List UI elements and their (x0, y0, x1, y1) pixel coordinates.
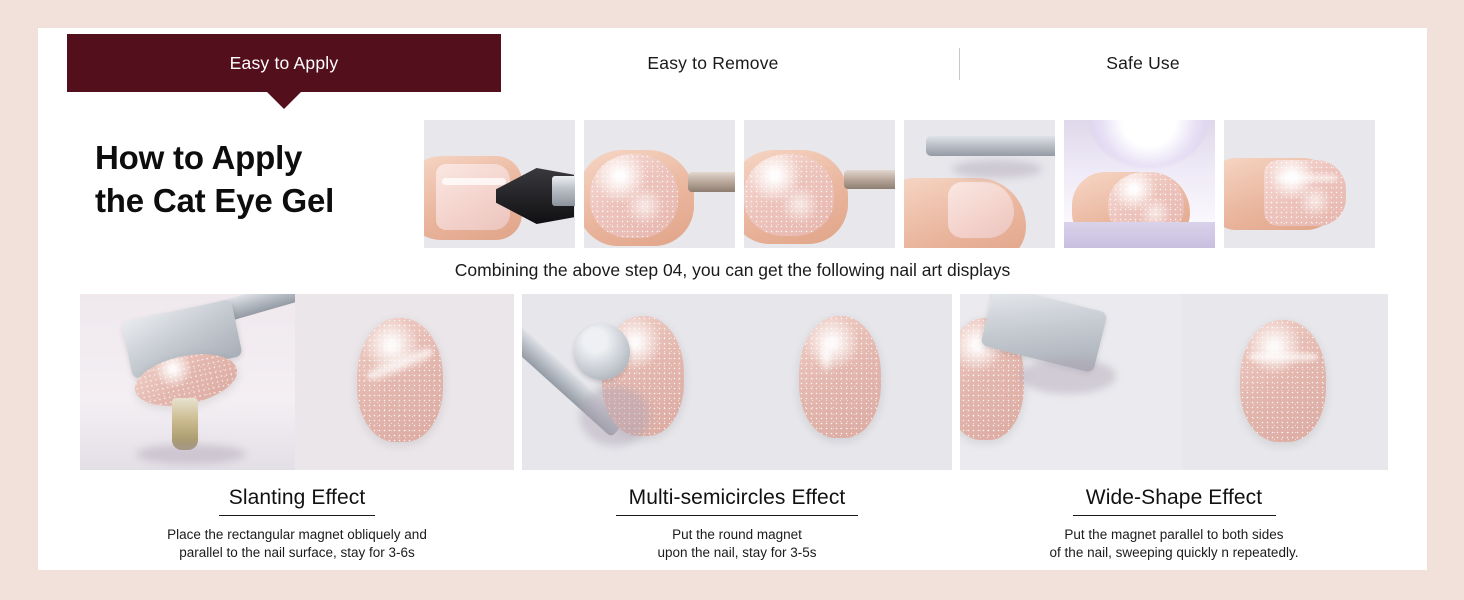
effect-photo-wide-shape-swatch[interactable] (1182, 294, 1388, 470)
photo-magnet-near-nail (584, 120, 735, 248)
effect-group-multi-semicircles: Multi-semicircles Effect Put the round m… (522, 294, 952, 562)
effect-title-rule (219, 515, 375, 516)
effect-image-pair (80, 294, 514, 470)
effect-description: Put the magnet parallel to both sides of… (960, 526, 1388, 562)
effect-groups: Slanting Effect Place the rectangular ma… (80, 294, 1390, 562)
tab-label: Easy to Remove (647, 53, 778, 74)
photo-magnet-bar (904, 120, 1055, 248)
tab-safe-use[interactable]: Safe Use (968, 34, 1318, 92)
step-thumb-finished-nail[interactable] (1224, 120, 1375, 248)
effect-title: Slanting Effect (80, 486, 514, 510)
mid-caption: Combining the above step 04, you can get… (38, 260, 1427, 281)
effect-title: Wide-Shape Effect (960, 486, 1388, 510)
tab-divider (959, 48, 960, 80)
photo-apply-gel (424, 120, 575, 248)
effect-photo-slanting-swatch[interactable] (295, 294, 514, 470)
step-thumb-magnet-over-shimmer-nail[interactable] (744, 120, 895, 248)
effect-title-rule (616, 515, 858, 516)
effect-image-pair (522, 294, 952, 470)
promo-banner: Easy to Apply Easy to Remove Safe Use Ho… (0, 0, 1464, 600)
step-thumb-apply-gel-with-brush[interactable] (424, 120, 575, 248)
tab-label: Safe Use (1106, 53, 1180, 74)
tab-easy-to-apply[interactable]: Easy to Apply (67, 34, 501, 92)
step-thumb-magnet-bar-above-nail[interactable] (904, 120, 1055, 248)
effect-group-wide-shape: Wide-Shape Effect Put the magnet paralle… (960, 294, 1388, 562)
effect-title: Multi-semicircles Effect (522, 486, 952, 510)
tab-pointer-triangle (267, 92, 301, 109)
effect-photo-magnet-parallel[interactable] (960, 294, 1182, 470)
effect-title-rule (1073, 515, 1276, 516)
effect-photo-round-magnet-on-nail[interactable] (522, 294, 737, 470)
step-thumbnail-row (424, 120, 1375, 248)
page-title: How to Apply the Cat Eye Gel (95, 136, 425, 222)
effect-description: Place the rectangular magnet obliquely a… (80, 526, 514, 562)
effect-description: Put the round magnet upon the nail, stay… (522, 526, 952, 562)
effect-image-pair (960, 294, 1388, 470)
photo-finished-nail (1224, 120, 1375, 248)
photo-magnet-over-nail (744, 120, 895, 248)
effect-photo-multi-semicircles-swatch[interactable] (737, 294, 952, 470)
tab-easy-to-remove[interactable]: Easy to Remove (538, 34, 888, 92)
effect-photo-rect-magnet-over-nail[interactable] (80, 294, 295, 470)
photo-uv-lamp (1064, 120, 1215, 248)
effect-group-slanting: Slanting Effect Place the rectangular ma… (80, 294, 514, 562)
page-title-line1: How to Apply (95, 136, 425, 179)
tab-label: Easy to Apply (230, 53, 339, 74)
content-card: Easy to Apply Easy to Remove Safe Use Ho… (38, 28, 1427, 570)
page-title-line2: the Cat Eye Gel (95, 179, 425, 222)
step-thumb-magnet-near-nail[interactable] (584, 120, 735, 248)
tab-bar: Easy to Apply Easy to Remove Safe Use (38, 28, 1427, 108)
step-thumb-cure-under-lamp[interactable] (1064, 120, 1215, 248)
